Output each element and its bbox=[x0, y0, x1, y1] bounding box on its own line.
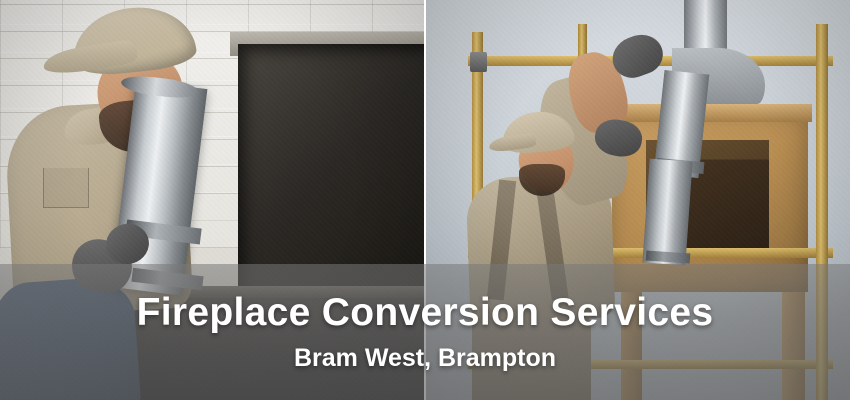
caption-overlay: Fireplace Conversion Services Bram West,… bbox=[0, 264, 850, 400]
banner-title: Fireplace Conversion Services bbox=[137, 293, 714, 332]
chase-top-rail bbox=[612, 104, 812, 122]
shirt-pocket-left bbox=[43, 168, 90, 208]
banner-subtitle: Bram West, Brampton bbox=[294, 346, 556, 371]
flue-pipe-lower-right bbox=[642, 159, 692, 266]
service-banner: Fireplace Conversion Services Bram West,… bbox=[0, 0, 850, 400]
scaffold-clamp bbox=[470, 52, 487, 72]
